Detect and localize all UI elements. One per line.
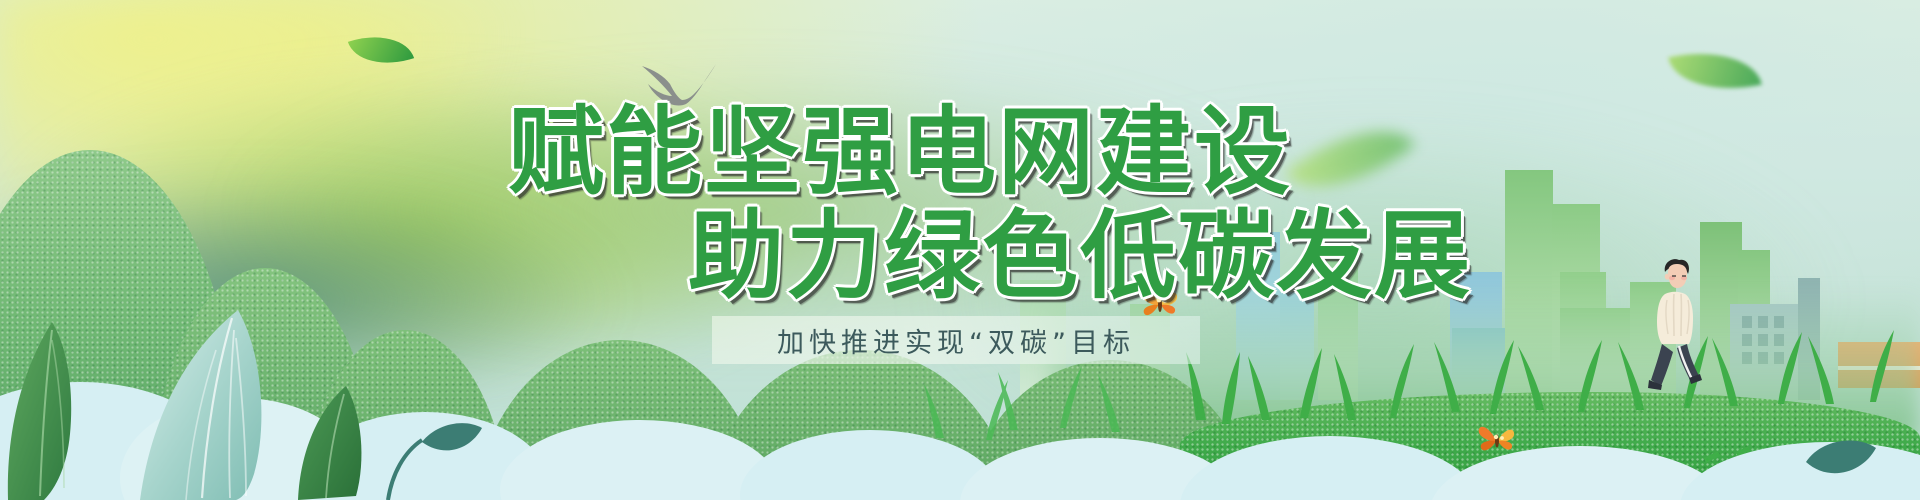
banner-text-block: 赋能坚强电网建设 助力绿色低碳发展 加快推进实现“双碳”目标 [0,0,1920,500]
title-line-2: 助力绿色低碳发展 [688,178,1472,317]
subtitle-text: 加快推进实现“双碳”目标 [712,316,1200,364]
eco-power-banner: 赋能坚强电网建设 助力绿色低碳发展 加快推进实现“双碳”目标 [0,0,1920,500]
